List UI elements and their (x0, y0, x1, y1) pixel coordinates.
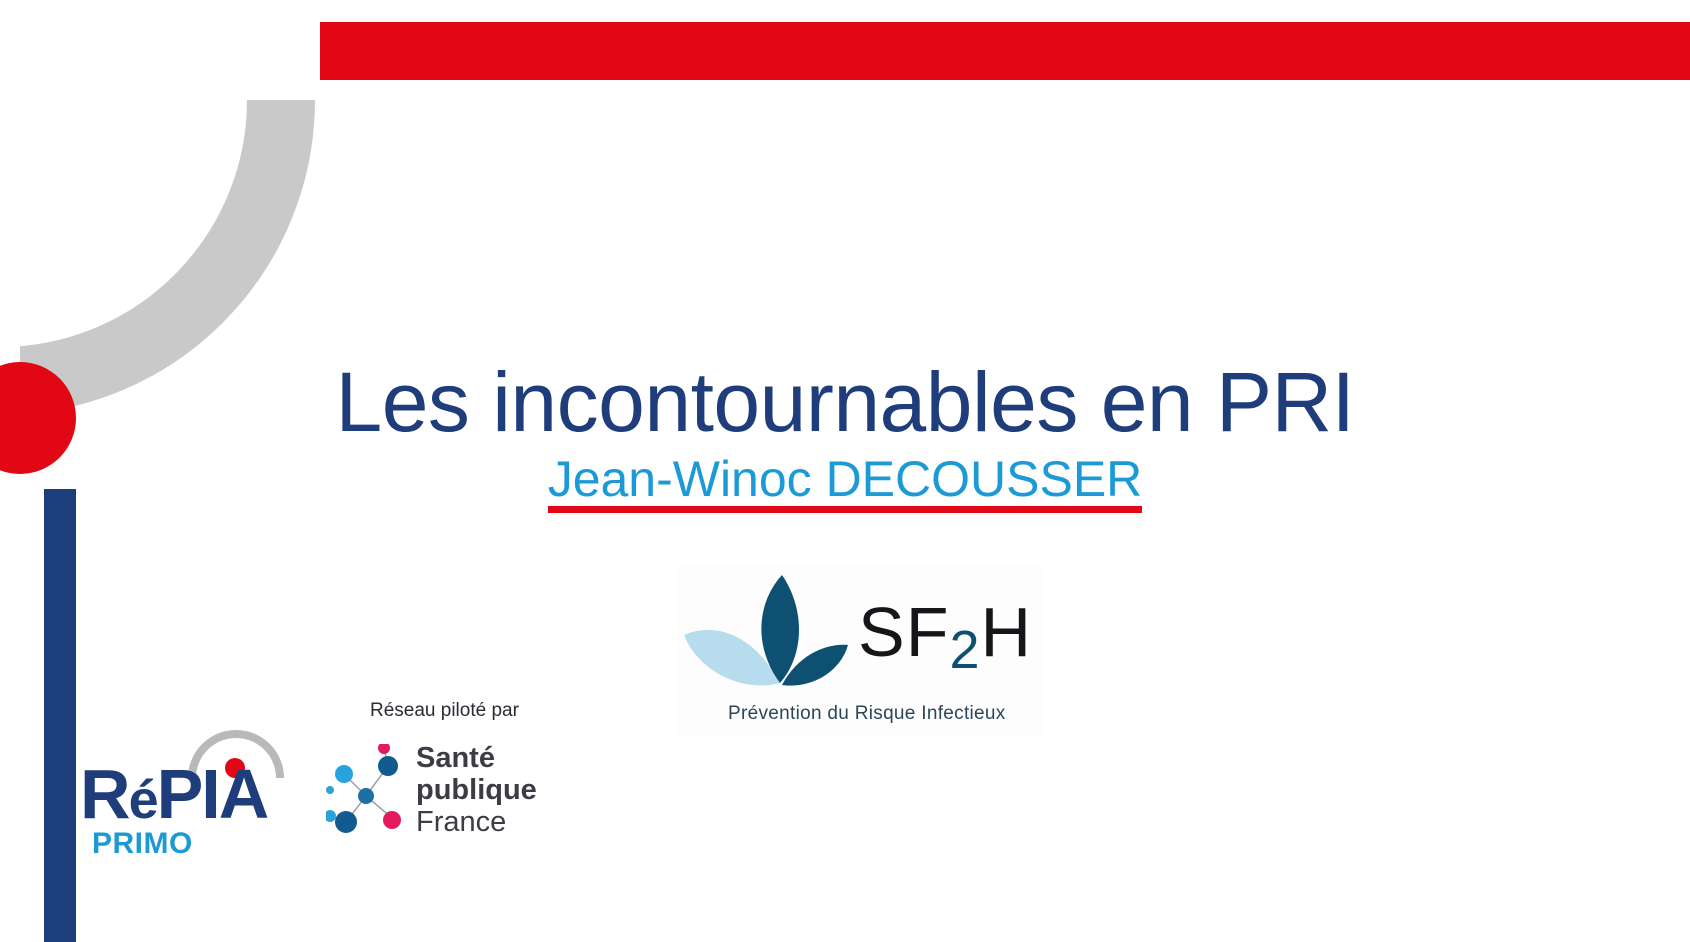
sf2h-leaf-icon (676, 573, 866, 693)
repia-logo: RéPIA PRIMO (80, 730, 320, 860)
spf-line-sante: Santé (416, 742, 537, 774)
title-block: Les incontournables en PRI Jean-Winoc DE… (0, 355, 1690, 507)
sf2h-logo: SF2H Prévention du Risque Infectieux (676, 565, 1042, 737)
repia-wordmark-e: é (129, 770, 157, 830)
spf-line-publique: publique (416, 774, 537, 806)
spf-wordmark: Santé publique France (416, 742, 537, 838)
arc-mask-top (0, 0, 320, 100)
repia-wordmark-pia: PIA (157, 755, 268, 833)
spf-kicker-text: Réseau piloté par (370, 700, 519, 722)
sf2h-wordmark: SF2H (858, 597, 1032, 673)
subtitle-wrapper: Jean-Winoc DECOUSSER (544, 451, 1147, 507)
sf2h-wordmark-sub: 2 (949, 620, 980, 680)
spf-network-icon (326, 744, 412, 844)
subtitle-red-underline (548, 506, 1143, 513)
sf2h-tagline: Prévention du Risque Infectieux (728, 703, 1006, 725)
sante-publique-france-logo: Réseau piloté par Santé publique France (326, 700, 546, 850)
repia-wordmark-r: R (80, 755, 129, 833)
page-title: Les incontournables en PRI (0, 355, 1690, 449)
repia-wordmark: RéPIA (80, 756, 267, 838)
spf-line-france: France (416, 806, 537, 838)
repia-primo-label: PRIMO (92, 828, 193, 860)
navy-vertical-bar-decoration (44, 489, 76, 942)
sf2h-wordmark-prefix: SF (858, 593, 949, 671)
title-slide: Les incontournables en PRI Jean-Winoc DE… (0, 0, 1690, 942)
sf2h-wordmark-suffix: H (981, 593, 1033, 671)
presenter-name: Jean-Winoc DECOUSSER (544, 451, 1147, 507)
